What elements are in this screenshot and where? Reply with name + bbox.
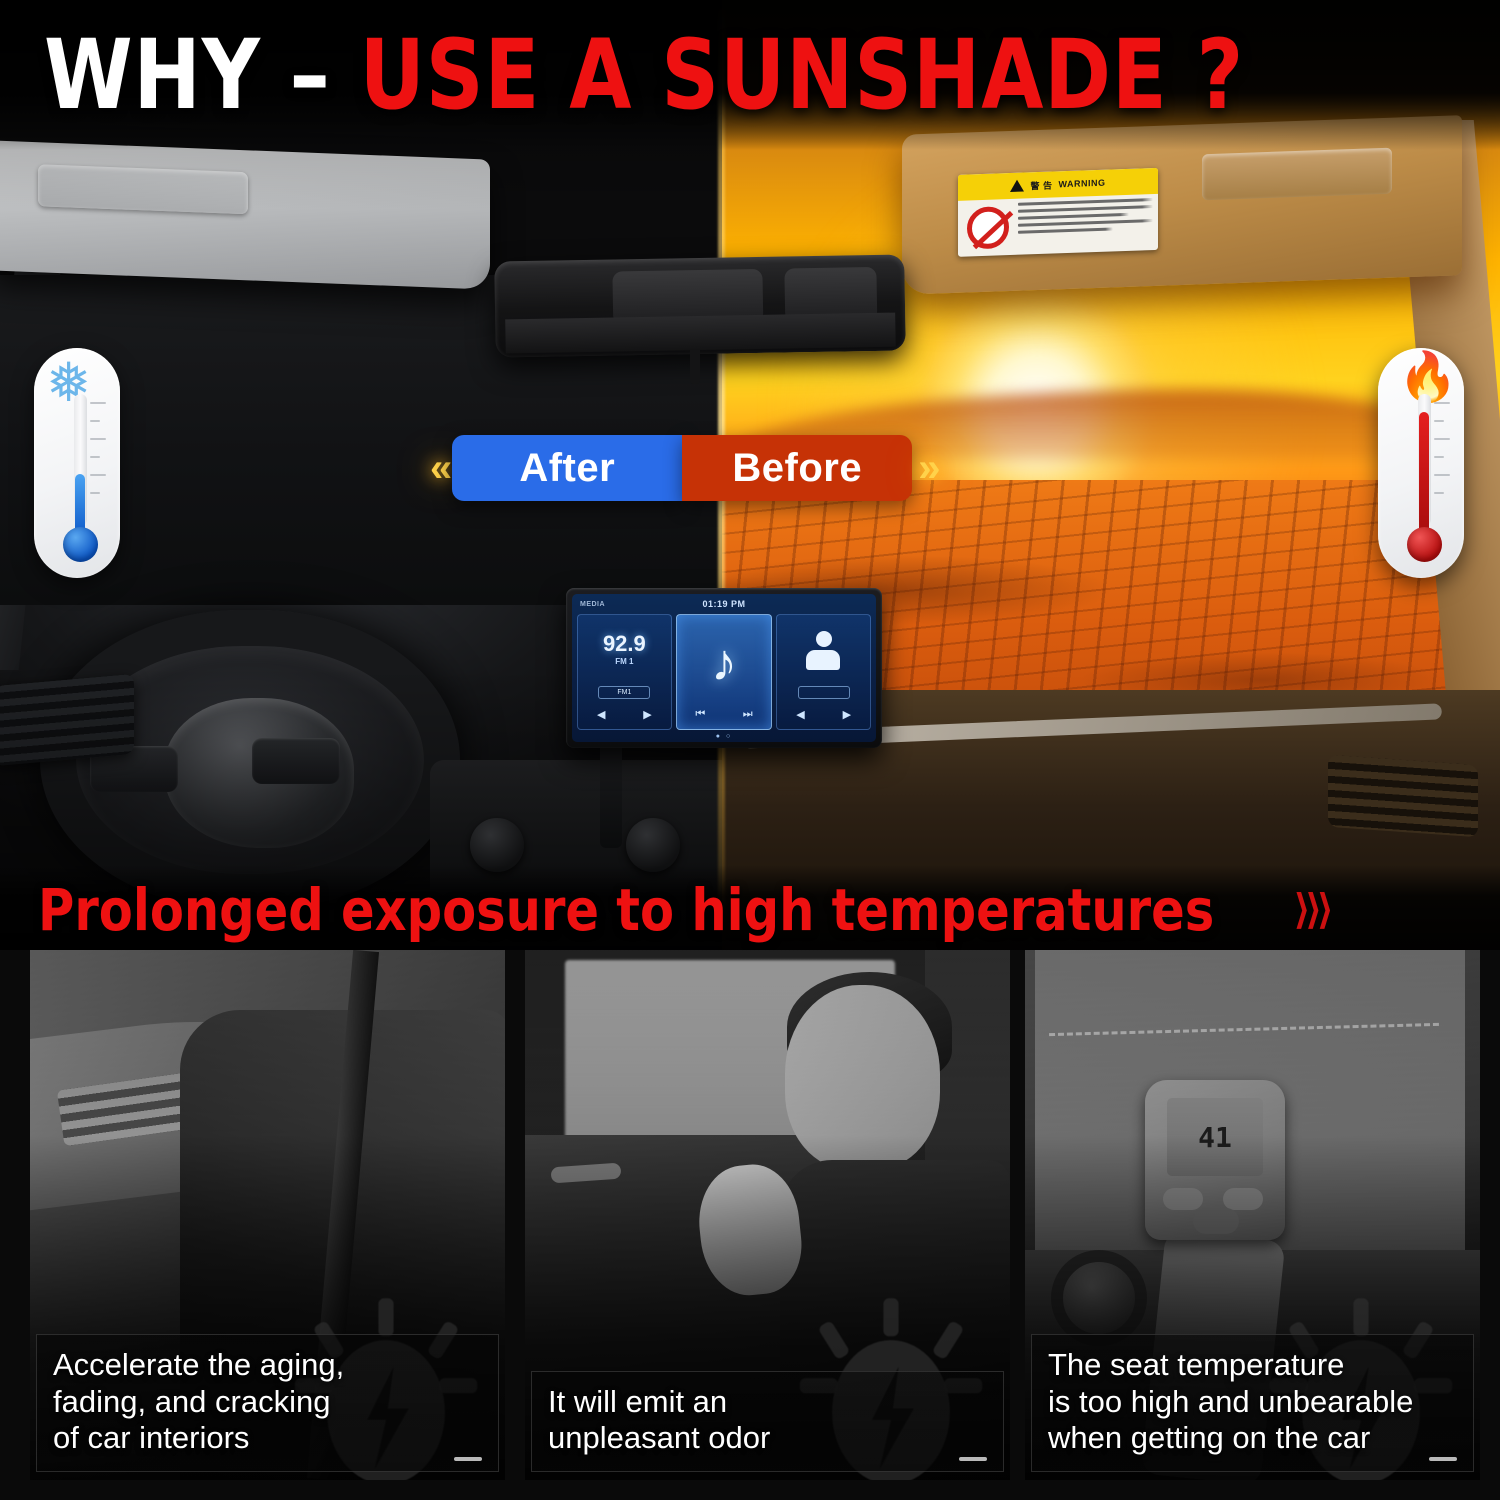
- warning-label-cjk: 警 告: [1030, 178, 1052, 192]
- prev-track-icon[interactable]: ⏮: [695, 708, 705, 721]
- screen-mount: [600, 748, 622, 848]
- no-rear-facing-child-seat-icon: [958, 199, 1018, 257]
- caption-line: unpleasant odor: [548, 1420, 989, 1457]
- infotainment-status-bar: MEDIA 01:19 PM: [572, 597, 876, 611]
- next-track-icon[interactable]: ⏭: [743, 708, 753, 721]
- before-badge[interactable]: Before: [682, 435, 912, 501]
- rearview-mirror-stem: [690, 350, 700, 384]
- caption-line: fading, and cracking: [53, 1384, 484, 1421]
- panel-caption-2: It will emit an unpleasant odor: [531, 1371, 1004, 1472]
- thermometer-ticks-cold: [90, 402, 110, 522]
- subheading-bar: Prolonged exposure to high temperatures …: [0, 865, 1500, 950]
- hot-thermometer: 🔥: [1378, 348, 1464, 578]
- caption-line: when getting on the car: [1048, 1420, 1459, 1457]
- caption-line: of car interiors: [53, 1420, 484, 1457]
- airbag-hub: [164, 698, 354, 848]
- after-badge[interactable]: After: [452, 435, 682, 501]
- panel-aging-fading-cracking: Accelerate the aging, fading, and cracki…: [30, 950, 505, 1480]
- title-red-part: USE A SUNSHADE ?: [360, 19, 1245, 131]
- rearview-mirror: [494, 254, 906, 357]
- caption-line: It will emit an: [548, 1384, 989, 1421]
- status-source-label: MEDIA: [580, 601, 605, 608]
- caption-line: The seat temperature: [1048, 1347, 1459, 1384]
- subheading-text: Prolonged exposure to high temperatures: [38, 881, 1214, 939]
- infotainment-unit[interactable]: MEDIA 01:19 PM 92.9 FM 1 FM1 ◀ ▶ ♪: [566, 588, 882, 748]
- occupant-prev-icon[interactable]: ◀: [796, 708, 804, 721]
- page-title: WHY – USE A SUNSHADE ?: [44, 27, 1244, 123]
- occupant-next-icon[interactable]: ▶: [843, 708, 851, 721]
- media-transport-controls[interactable]: ⏮ ⏭: [677, 708, 772, 721]
- visor-mirror-cover-right: [1202, 148, 1392, 201]
- warning-label-text: [1018, 194, 1158, 255]
- warning-label-body: [958, 194, 1158, 257]
- radio-band: FM 1: [578, 657, 671, 666]
- cold-thermometer: ❅: [34, 348, 120, 578]
- caption-underscore: [454, 1457, 482, 1461]
- radio-next-icon[interactable]: ▶: [643, 708, 651, 721]
- infotainment-cards: 92.9 FM 1 FM1 ◀ ▶ ♪ ⏮ ⏭: [577, 614, 871, 730]
- page-indicator-dots: ● ○: [572, 733, 876, 740]
- radio-card[interactable]: 92.9 FM 1 FM1 ◀ ▶: [577, 614, 672, 730]
- radio-frequency: 92.9: [578, 631, 671, 657]
- reflected-seatback: [505, 313, 896, 354]
- radio-preset-pill[interactable]: FM1: [598, 686, 650, 699]
- panel-seat-temperature: 41 The seat temperature is too high an: [1025, 950, 1480, 1480]
- infographic-page: 警 告 WARNING: [0, 0, 1500, 1500]
- chevron-triple-right-icon: ⟩⟩⟩: [1294, 890, 1329, 930]
- before-after-hero: 警 告 WARNING: [0, 0, 1500, 950]
- panel-caption-3: The seat temperature is too high and unb…: [1031, 1334, 1474, 1472]
- caption-line: is too high and unbearable: [1048, 1384, 1459, 1421]
- chevron-right-icon: »: [918, 448, 934, 488]
- panel-caption-1: Accelerate the aging, fading, and cracki…: [36, 1334, 499, 1472]
- steering-buttons-left: [90, 746, 178, 792]
- caption-underscore: [959, 1457, 987, 1461]
- seat-occupant-icon: [806, 631, 842, 671]
- media-card[interactable]: ♪ ⏮ ⏭: [676, 614, 773, 730]
- title-bar: WHY – USE A SUNSHADE ?: [0, 0, 1500, 150]
- dashboard-vent-left: [0, 674, 134, 766]
- occupant-status-pill[interactable]: [798, 686, 850, 699]
- climate-knob-1: [470, 818, 524, 872]
- radio-prev-icon[interactable]: ◀: [597, 708, 605, 721]
- infotainment-screen[interactable]: MEDIA 01:19 PM 92.9 FM 1 FM1 ◀ ▶ ♪: [572, 594, 876, 742]
- sun-visor-cool: [0, 140, 490, 289]
- thermometer-bulb-hot: [1407, 527, 1442, 562]
- consequence-panels: Accelerate the aging, fading, and cracki…: [0, 950, 1500, 1500]
- occupant-arrows[interactable]: ◀ ▶: [777, 708, 870, 721]
- warning-label-heading: WARNING: [1059, 178, 1106, 190]
- clock-label: 01:19 PM: [702, 599, 745, 609]
- caption-line: Accelerate the aging,: [53, 1347, 484, 1384]
- panel-unpleasant-odor: It will emit an unpleasant odor: [525, 950, 1010, 1480]
- thermometer-bulb-cold: [63, 527, 98, 562]
- warning-triangle-icon: [1010, 180, 1024, 192]
- climate-knob-2: [626, 818, 680, 872]
- dashboard-vent-right: [1328, 755, 1478, 837]
- before-after-toggle[interactable]: « After Before »: [430, 430, 1010, 506]
- caption-underscore: [1429, 1457, 1457, 1461]
- steering-buttons-right: [252, 738, 340, 784]
- title-white-part: WHY –: [44, 19, 331, 131]
- visor-mirror-cover: [38, 164, 248, 214]
- thermometer-ticks-hot: [1434, 402, 1454, 522]
- thermometer-fill-hot: [1419, 412, 1429, 538]
- radio-seek-arrows[interactable]: ◀ ▶: [578, 708, 671, 721]
- airbag-warning-label: 警 告 WARNING: [958, 168, 1158, 257]
- music-note-icon: ♪: [677, 637, 772, 689]
- chevron-left-icon: «: [430, 448, 446, 488]
- occupant-card[interactable]: ◀ ▶: [776, 614, 871, 730]
